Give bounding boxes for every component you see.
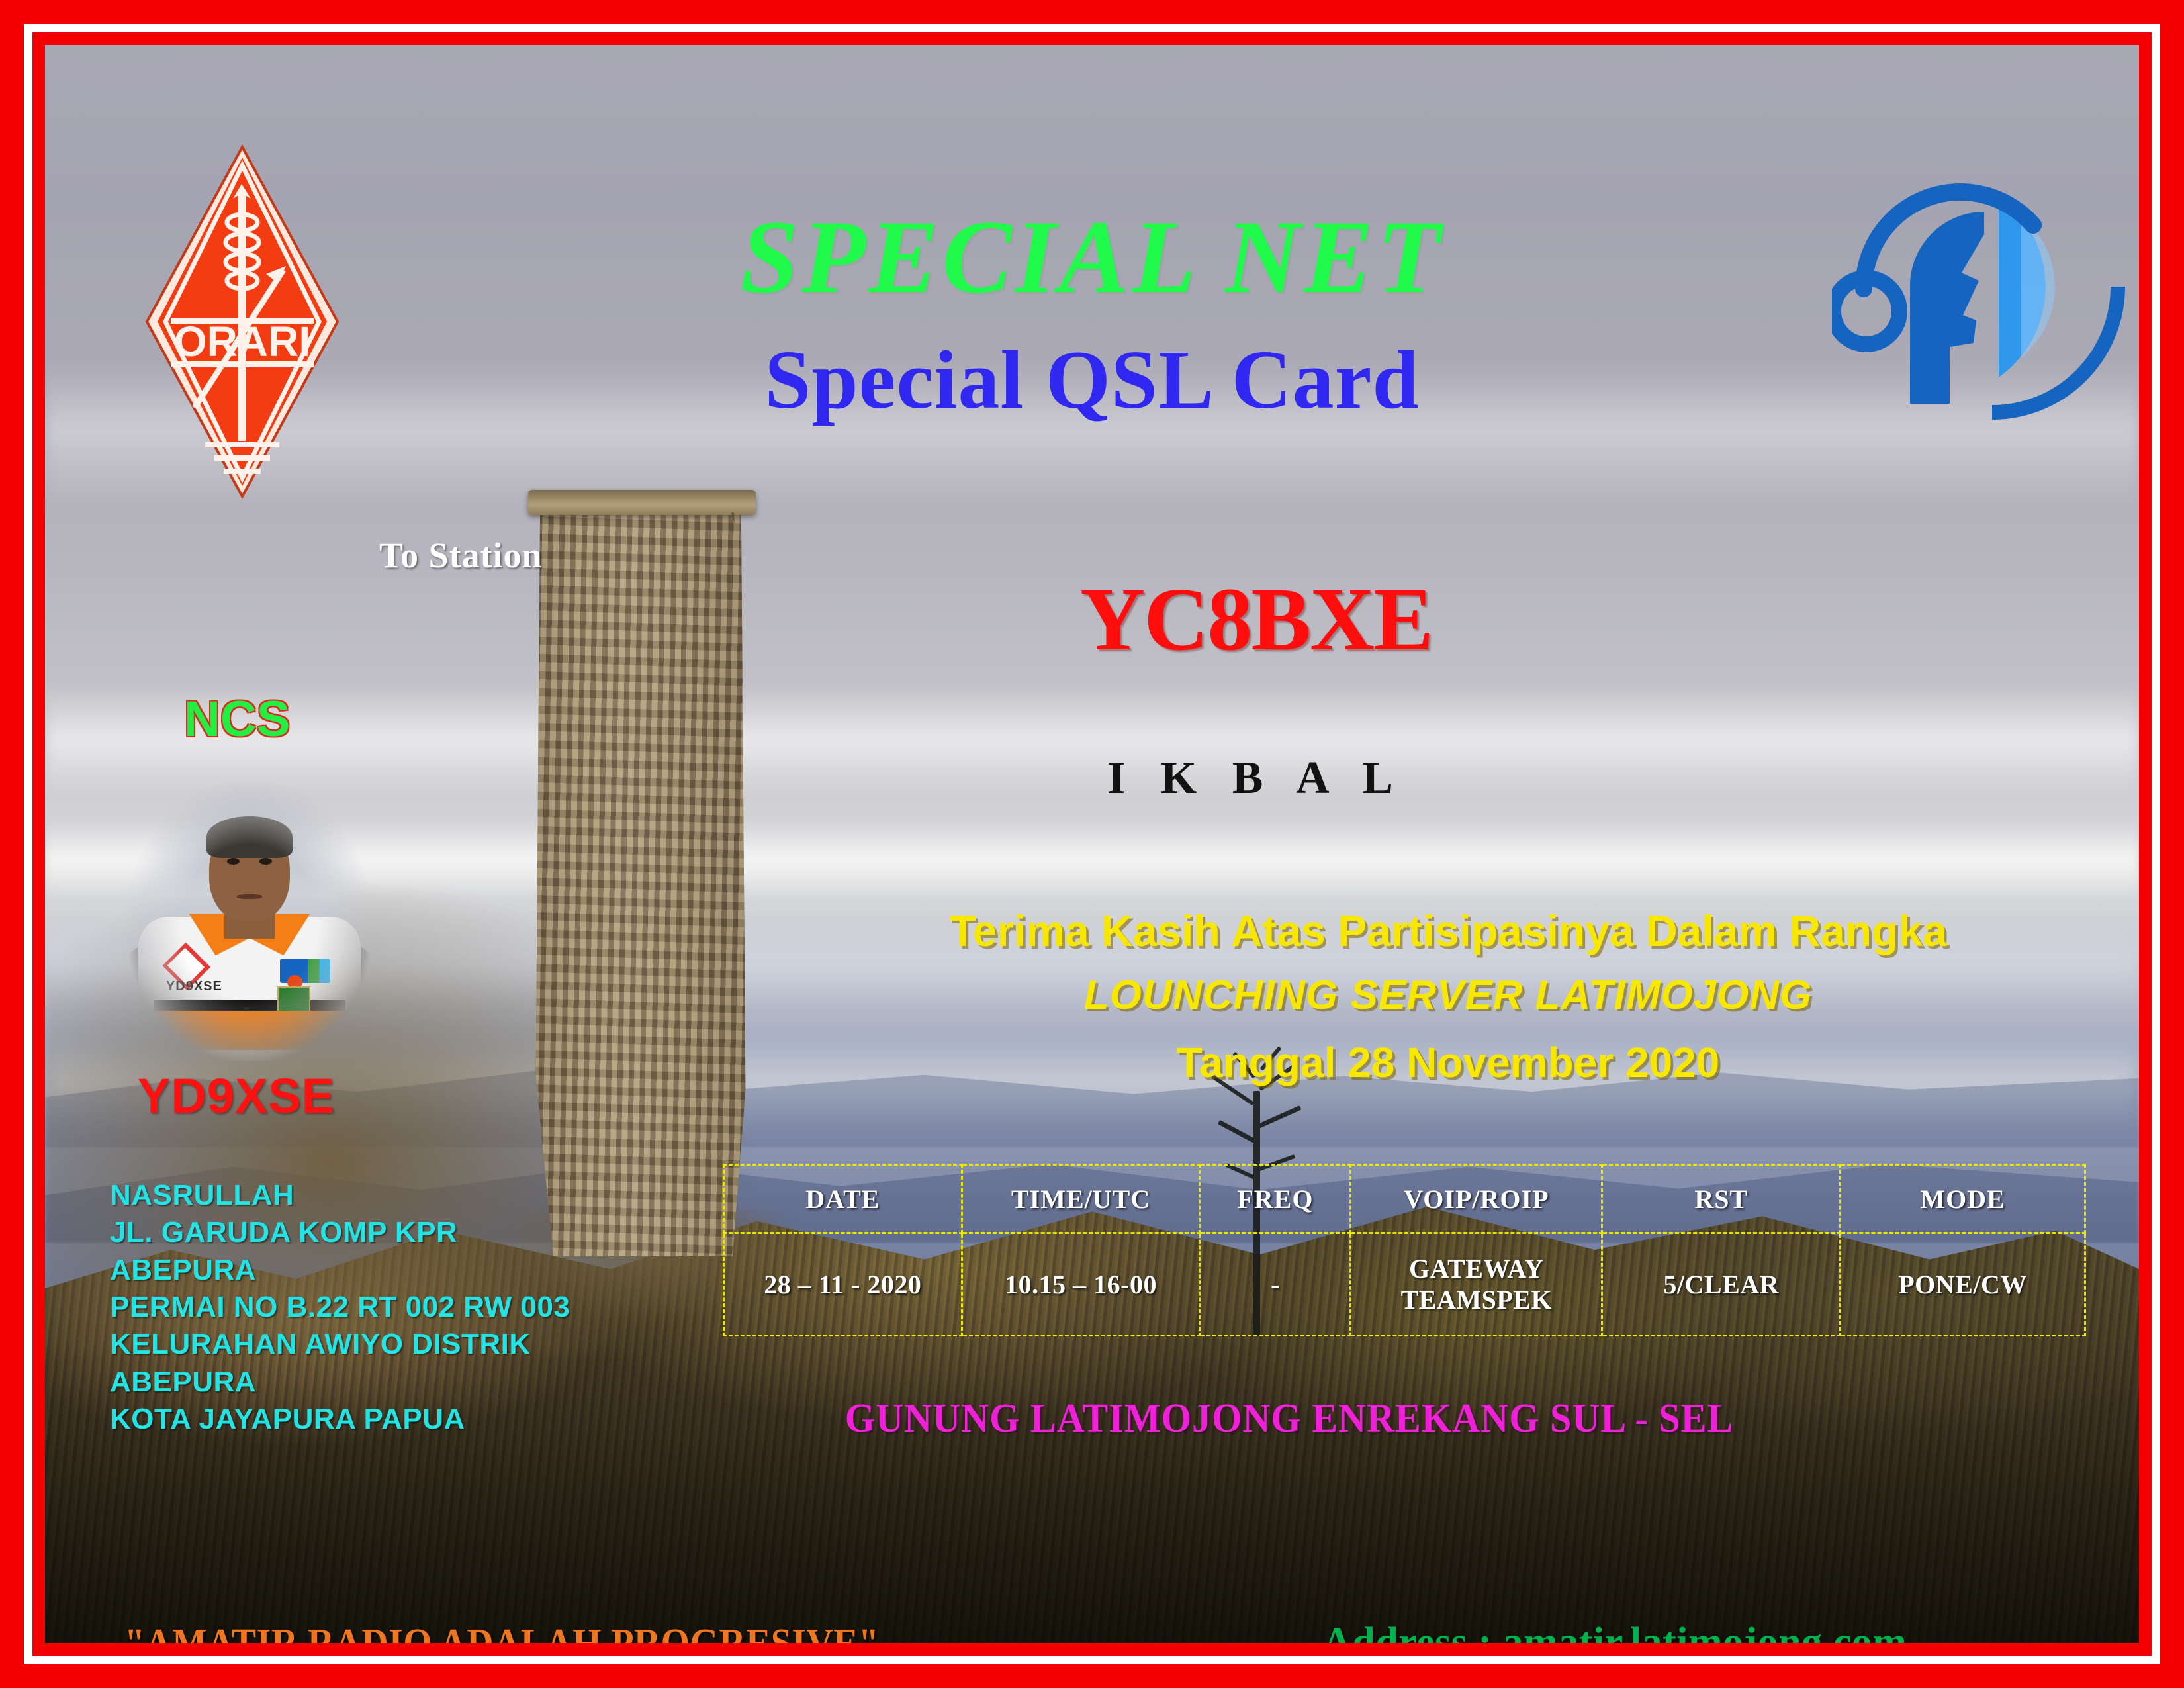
column-header-time-utc: TIME/UTC: [962, 1165, 1200, 1233]
page-title-special-net: SPECIAL NET: [45, 197, 2139, 318]
address-line: KOTA JAYAPURA PAPUA: [110, 1401, 570, 1438]
stone-cairn-monument: [531, 502, 750, 1256]
qsl-card-white-gap: ORARI: [24, 24, 2160, 1664]
page-subtitle-qsl-card: Special QSL Card: [45, 333, 2139, 428]
footer-motto: "AMATIR RADIO ADALAH PROGRESIVE": [124, 1620, 879, 1643]
footer-address-url: Address : amatir.latimojong.com: [1322, 1619, 1907, 1643]
column-header-rst: RST: [1602, 1165, 1841, 1233]
ncs-label: NCS: [184, 690, 290, 748]
column-header-mode: MODE: [1841, 1165, 2085, 1233]
address-line: NASRULLAH: [110, 1177, 570, 1214]
qsl-card-outer-border: ORARI: [0, 0, 2184, 1688]
orari-logo: ORARI: [143, 143, 341, 500]
qsl-card-inner-border: ORARI: [32, 32, 2152, 1656]
event-location: GUNUNG LATIMOJONG ENREKANG SUL - SEL: [605, 1395, 1974, 1442]
recipient-callsign: YC8BXE: [958, 568, 1554, 671]
cell-time-utc: 10.15 – 16-00: [962, 1233, 1200, 1336]
qso-log-table: DATE TIME/UTC FREQ VOIP/ROIP RST MODE 28…: [723, 1164, 2086, 1336]
table-row: 28 – 11 - 2020 10.15 – 16-00 - GATEWAY T…: [724, 1233, 2085, 1336]
address-line: ABEPURA: [110, 1364, 570, 1401]
to-station-label: To Station: [379, 535, 543, 576]
column-header-freq: FREQ: [1200, 1165, 1351, 1233]
cell-voip-roip-line2: TEAMSPEK: [1352, 1284, 1600, 1315]
column-header-voip-roip: VOIP/ROIP: [1351, 1165, 1602, 1233]
cairn-top-cap: [528, 490, 756, 515]
station-address-block: NASRULLAH JL. GARUDA KOMP KPR ABEPURA PE…: [110, 1177, 570, 1438]
event-date: Tanggal 28 November 2020: [773, 1038, 2123, 1087]
address-line: KELURAHAN AWIYO DISTRIK: [110, 1326, 570, 1363]
cell-rst: 5/CLEAR: [1602, 1233, 1841, 1336]
address-line: JL. GARUDA KOMP KPR: [110, 1214, 570, 1251]
cell-mode: PONE/CW: [1841, 1233, 2085, 1336]
table-header-row: DATE TIME/UTC FREQ VOIP/ROIP RST MODE: [724, 1165, 2085, 1233]
column-header-date: DATE: [724, 1165, 962, 1233]
photo-patch-callsign: YD9XSE: [166, 979, 222, 994]
thanks-line: Terima Kasih Atas Partisipasinya Dalam R…: [773, 906, 2123, 956]
ncs-callsign: YD9XSE: [138, 1068, 335, 1124]
cell-freq: -: [1200, 1233, 1351, 1336]
cell-voip-roip: GATEWAY TEAMSPEK: [1351, 1233, 1602, 1336]
qsl-card-photo-area: ORARI: [45, 45, 2139, 1643]
recipient-operator-name: I K B A L: [958, 752, 1554, 805]
event-name: LOUNCHING SERVER LATIMOJONG: [773, 972, 2123, 1019]
address-line: PERMAI NO B.22 RT 002 RW 003: [110, 1289, 570, 1326]
ncs-operator-photo: YD9XSE: [123, 783, 376, 1061]
address-line: ABEPURA: [110, 1252, 570, 1289]
cell-date: 28 – 11 - 2020: [724, 1233, 962, 1336]
cell-voip-roip-line1: GATEWAY: [1352, 1253, 1600, 1284]
